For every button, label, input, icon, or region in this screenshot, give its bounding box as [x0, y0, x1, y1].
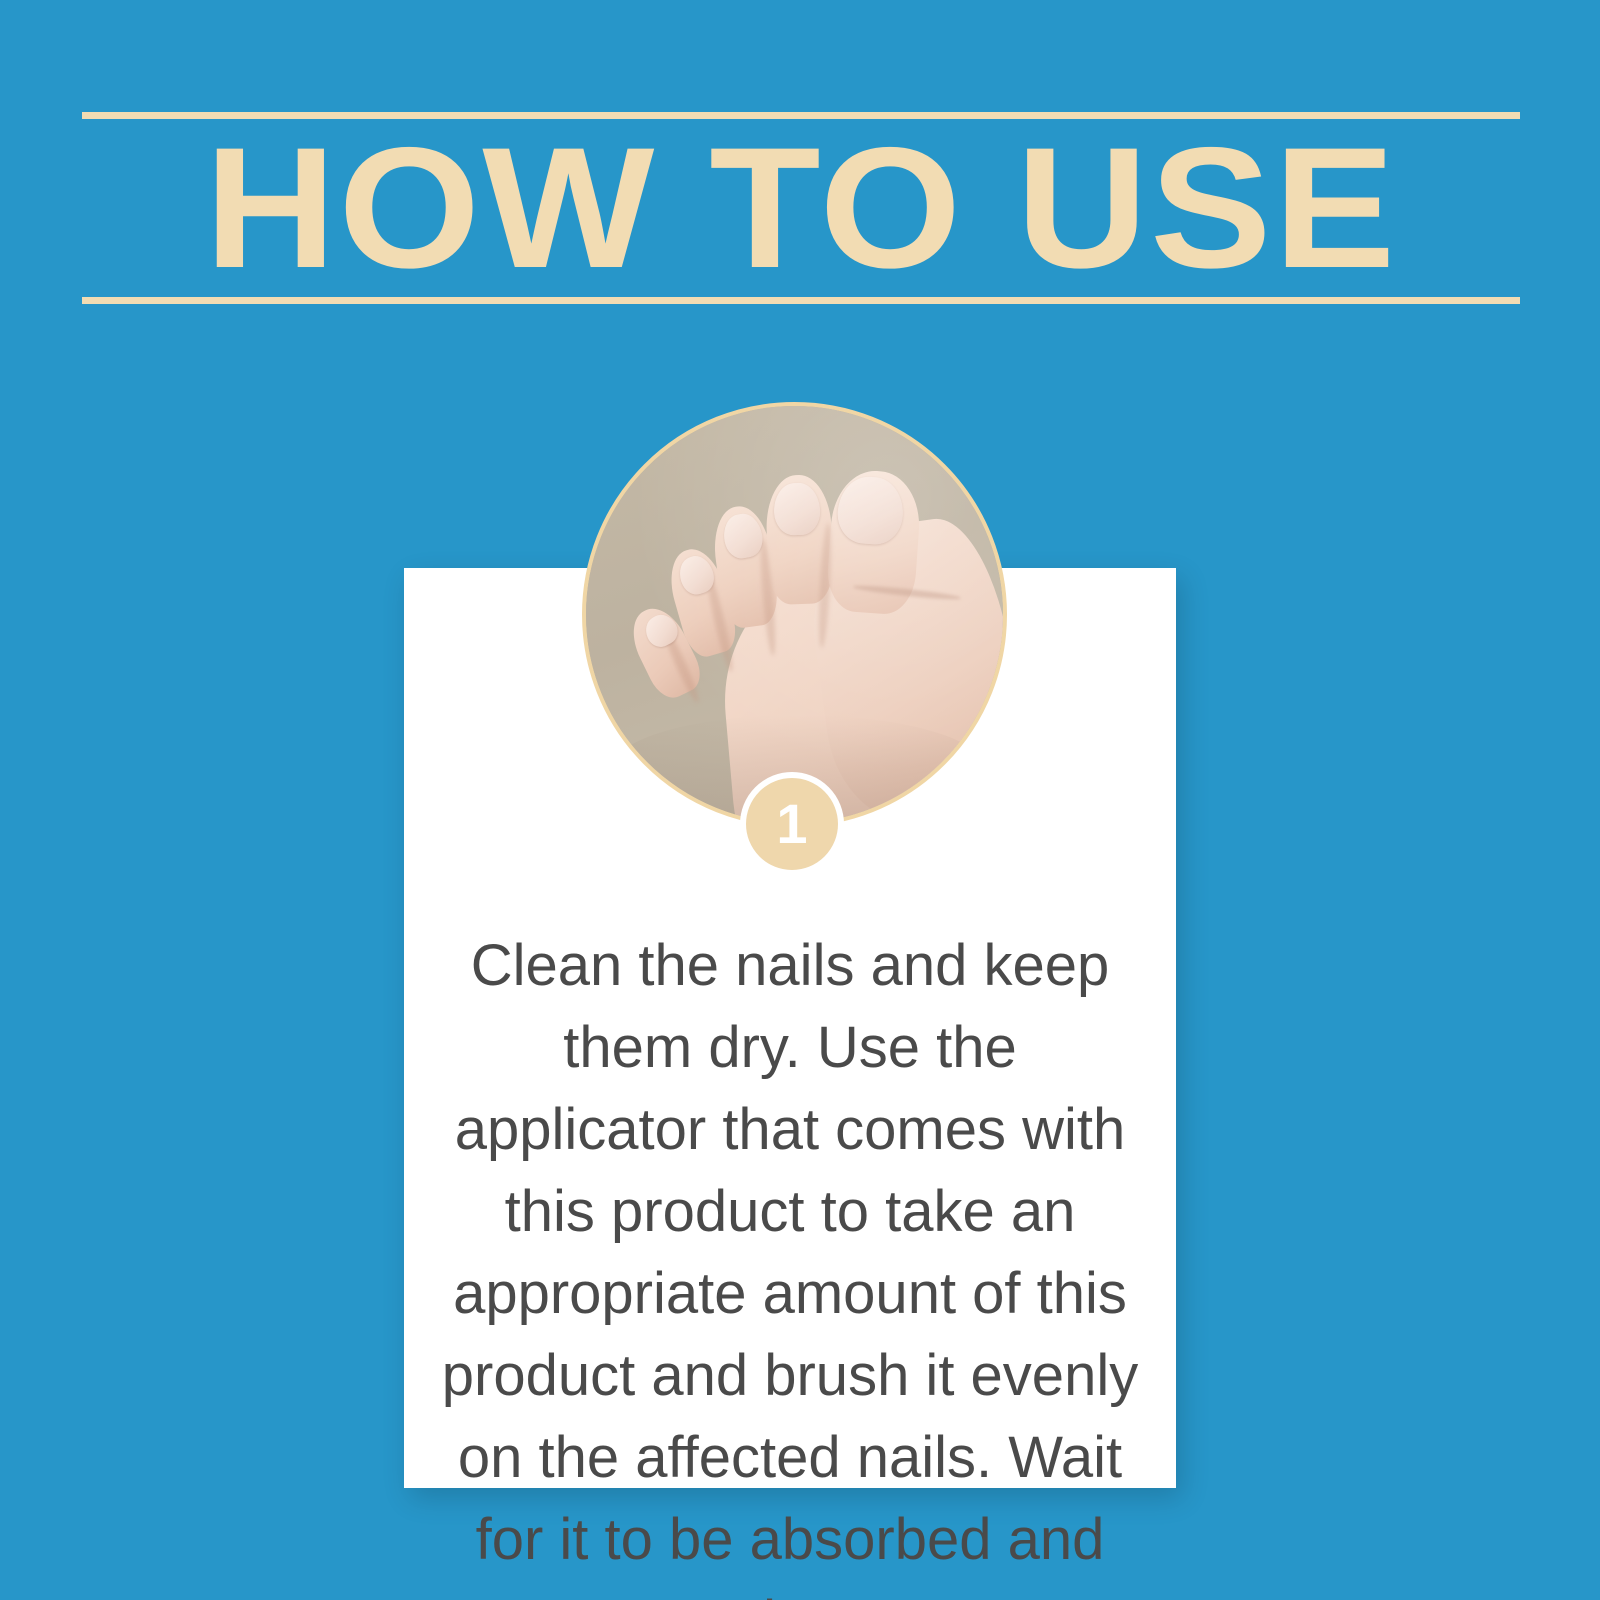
toenail-third: [720, 511, 765, 561]
page-title: HOW TO USE: [39, 122, 1563, 294]
toe-big-shape: [825, 468, 922, 616]
header: HOW TO USE: [82, 112, 1520, 304]
step-number-badge: 1: [740, 772, 844, 876]
step-number-label: 1: [776, 796, 807, 852]
toenail-big: [836, 475, 905, 546]
step-instruction-text: Clean the nails and keep them dry. Use t…: [432, 925, 1148, 1600]
toe-gap-4: [659, 624, 702, 704]
foot-instep-shape: [800, 511, 1007, 827]
toenail-fourth: [675, 552, 718, 598]
foot-photo-illustration: [586, 406, 1003, 823]
toe-gap-2: [758, 539, 779, 656]
toe-gap-3: [704, 573, 737, 673]
toe-third-shape: [709, 503, 782, 631]
toe-gap-1: [816, 523, 833, 648]
step-image: [582, 402, 1007, 827]
toenail-second: [773, 482, 821, 536]
foot-crease-line: [853, 584, 962, 602]
toe-second-shape: [765, 474, 834, 605]
toenail-little: [641, 609, 683, 651]
how-to-use-poster: HOW TO USE 1 Cl: [0, 0, 1600, 1600]
toe-little-shape: [623, 600, 708, 704]
title-bottom-rule: [82, 297, 1520, 304]
toe-fourth-shape: [662, 543, 742, 662]
